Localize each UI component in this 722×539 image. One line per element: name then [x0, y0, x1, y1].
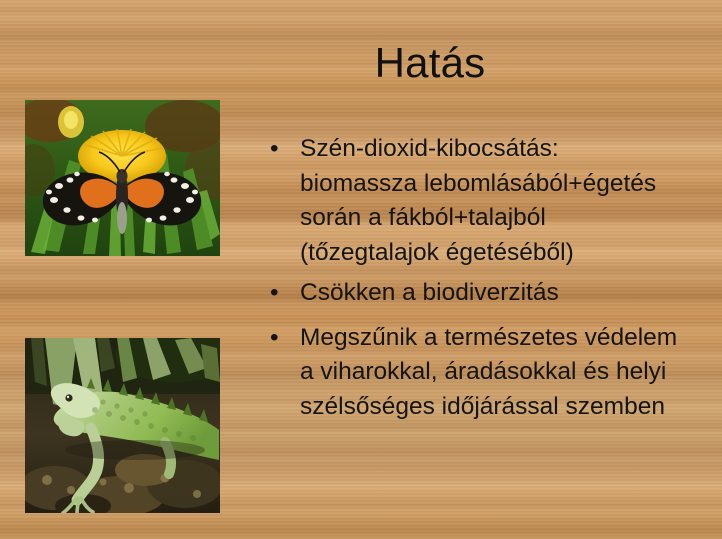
bullet-text: Csökken a biodiverzitás — [300, 276, 682, 311]
slide-body-text: • Szén-dioxid-kibocsátás: biomassza lebo… — [262, 132, 682, 430]
presentation-slide: Hatás — [0, 0, 722, 539]
bullet-text: Megszűnik a természetes védelem a viharo… — [300, 321, 682, 425]
butterfly-on-dandelion-photo — [25, 100, 220, 256]
bullet-marker-icon: • — [270, 132, 279, 167]
bullet-item: • Csökken a biodiverzitás — [262, 276, 682, 311]
bullet-item: • Szén-dioxid-kibocsátás: biomassza lebo… — [262, 132, 682, 270]
bullet-marker-icon: • — [270, 321, 279, 356]
green-iguana-photo — [25, 338, 220, 513]
slide-title: Hatás — [160, 38, 700, 88]
bullet-text: Szén-dioxid-kibocsátás: biomassza leboml… — [300, 132, 682, 270]
bullet-item: • Megszűnik a természetes védelem a viha… — [262, 321, 682, 425]
butterfly-photo-graphic — [25, 100, 220, 256]
bullet-marker-icon: • — [270, 276, 279, 311]
iguana-photo-graphic — [25, 338, 220, 513]
